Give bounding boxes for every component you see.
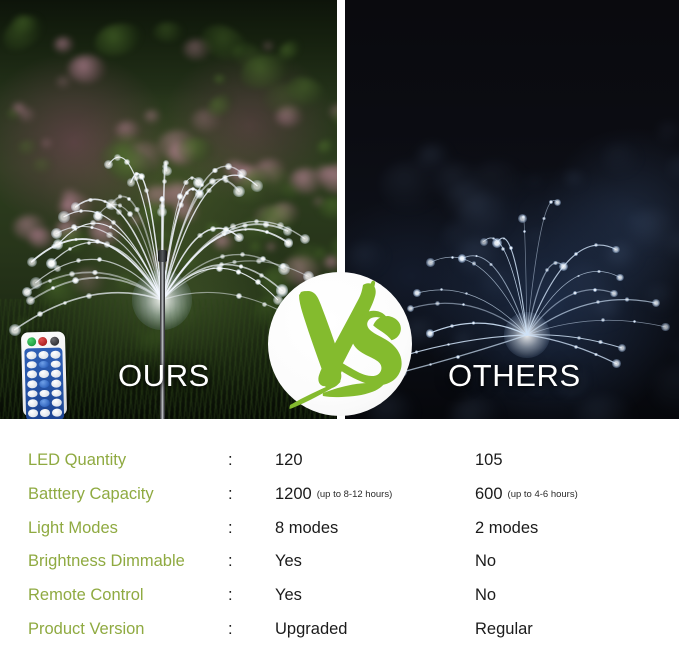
led-bulb bbox=[210, 226, 216, 232]
remote-key bbox=[40, 399, 50, 407]
led-bulb bbox=[577, 336, 581, 340]
led-bulb bbox=[447, 343, 450, 346]
led-bulb bbox=[197, 233, 203, 239]
led-bulb bbox=[232, 260, 237, 265]
led-bulb bbox=[88, 198, 93, 203]
led-bulb bbox=[593, 288, 597, 292]
spec-label: LED Quantity bbox=[28, 451, 126, 470]
remote-key bbox=[26, 351, 36, 359]
led-bulb bbox=[413, 289, 421, 297]
remote-mode-button bbox=[50, 337, 59, 346]
led-bulb bbox=[134, 172, 139, 177]
led-bulb bbox=[262, 302, 267, 307]
led-bulb bbox=[612, 246, 620, 254]
led-bulb bbox=[523, 230, 526, 233]
led-bulb bbox=[162, 179, 167, 184]
led-bulb bbox=[577, 275, 580, 278]
spec-value-ours-main: 120 bbox=[275, 451, 303, 469]
led-bulb bbox=[87, 241, 91, 245]
spec-value-others: No bbox=[475, 552, 496, 571]
led-bulb bbox=[652, 299, 660, 307]
garden-stake-pole bbox=[160, 258, 165, 419]
led-bulb bbox=[618, 344, 626, 352]
led-bulb bbox=[426, 258, 434, 266]
led-bulb bbox=[598, 340, 603, 345]
spec-value-others: 600(up to 4-6 hours) bbox=[475, 485, 578, 504]
spec-value-others: 105 bbox=[475, 451, 503, 470]
led-bulb bbox=[265, 230, 269, 234]
spec-colon: : bbox=[228, 586, 233, 605]
led-bulb bbox=[480, 238, 488, 246]
led-bulb bbox=[277, 222, 284, 229]
led-bulb bbox=[251, 180, 263, 192]
led-bulb bbox=[163, 160, 169, 166]
led-bulb bbox=[22, 287, 32, 297]
led-bulb bbox=[26, 296, 35, 305]
led-bulb bbox=[220, 254, 224, 258]
remote-key bbox=[51, 380, 61, 388]
spec-label: Batttery Capacity bbox=[28, 485, 154, 504]
remote-control bbox=[21, 331, 67, 416]
spec-value-others: Regular bbox=[475, 620, 533, 639]
spec-row: Remote Control:YesNo bbox=[0, 586, 679, 620]
spec-value-others-main: No bbox=[475, 552, 496, 570]
led-bulb bbox=[185, 191, 189, 195]
garden-stake-cap bbox=[158, 250, 167, 262]
led-bulb bbox=[553, 261, 557, 265]
spec-value-others-main: 600 bbox=[475, 485, 503, 503]
led-bulb bbox=[230, 223, 237, 230]
led-bulb bbox=[236, 269, 242, 275]
led-bulb bbox=[138, 173, 145, 180]
remote-key bbox=[51, 370, 61, 378]
led-bulb bbox=[492, 238, 502, 248]
led-bulb bbox=[48, 279, 52, 283]
spec-value-others-note: (up to 4-6 hours) bbox=[508, 489, 578, 500]
vs-icon bbox=[268, 272, 412, 416]
vs-badge bbox=[268, 272, 412, 416]
remote-power-on-button bbox=[27, 337, 36, 346]
led-bulb bbox=[212, 168, 218, 174]
led-bulb bbox=[95, 239, 100, 244]
led-bulb bbox=[127, 197, 131, 201]
led-bulb bbox=[46, 258, 57, 269]
spec-colon: : bbox=[228, 620, 233, 639]
spec-value-ours-main: Yes bbox=[275, 586, 302, 604]
led-bulb bbox=[157, 207, 167, 217]
led-bulb bbox=[435, 301, 440, 306]
led-bulb bbox=[76, 258, 81, 263]
spec-value-others: 2 modes bbox=[475, 519, 538, 538]
led-bulb bbox=[280, 263, 286, 269]
led-bulb bbox=[236, 293, 242, 299]
spec-value-ours: 1200(up to 8-12 hours) bbox=[275, 485, 392, 504]
led-bulb bbox=[234, 233, 244, 243]
remote-key bbox=[39, 370, 49, 378]
led-bulb bbox=[429, 363, 432, 366]
remote-key bbox=[28, 409, 38, 417]
ours-label: OURS bbox=[118, 358, 210, 394]
led-bulb bbox=[426, 329, 435, 338]
led-bulb bbox=[450, 324, 453, 327]
remote-key bbox=[27, 371, 37, 379]
spec-label: Remote Control bbox=[28, 586, 144, 605]
led-bulb bbox=[596, 300, 599, 303]
spec-value-ours: Upgraded bbox=[275, 620, 347, 639]
led-bulb bbox=[233, 186, 244, 197]
remote-power-off-button bbox=[39, 337, 48, 346]
spec-row: LED Quantity:120105 bbox=[0, 451, 679, 485]
spec-value-ours-main: Upgraded bbox=[275, 620, 347, 638]
spec-colon: : bbox=[228, 485, 233, 504]
spec-label: Product Version bbox=[28, 620, 144, 639]
led-bulb bbox=[451, 256, 454, 259]
led-bulb bbox=[93, 211, 103, 221]
spec-value-ours: 120 bbox=[275, 451, 303, 470]
remote-key bbox=[27, 361, 37, 369]
spec-row: Light Modes:8 modes2 modes bbox=[0, 519, 679, 553]
led-bulb bbox=[106, 199, 117, 210]
photo-comparison-band: OURS OTHERS bbox=[0, 0, 679, 419]
led-bulb bbox=[625, 297, 629, 301]
spec-value-ours-note: (up to 8-12 hours) bbox=[317, 489, 393, 500]
spec-value-others-main: 2 modes bbox=[475, 519, 538, 537]
remote-key bbox=[39, 390, 49, 398]
spec-value-ours: 8 modes bbox=[275, 519, 338, 538]
led-bulb bbox=[86, 293, 92, 299]
remote-keypad bbox=[24, 348, 64, 419]
led-bulb bbox=[116, 209, 122, 215]
product-comparison-graphic: OURS OTHERS bbox=[0, 0, 679, 645]
remote-key bbox=[27, 390, 37, 398]
led-bulb bbox=[118, 203, 122, 207]
remote-key bbox=[40, 409, 50, 417]
led-bulb bbox=[509, 246, 513, 250]
spec-value-ours: Yes bbox=[275, 586, 302, 605]
led-bulb bbox=[104, 241, 110, 247]
led-bulb bbox=[27, 257, 37, 267]
spec-colon: : bbox=[228, 552, 233, 571]
others-label: OTHERS bbox=[448, 358, 581, 394]
spec-value-ours: Yes bbox=[275, 552, 302, 571]
spec-label: Brightness Dimmable bbox=[28, 552, 185, 571]
led-bulb bbox=[63, 301, 67, 305]
remote-top-button-row bbox=[26, 337, 60, 347]
led-bulb bbox=[124, 159, 130, 165]
led-bulb bbox=[518, 214, 527, 223]
spec-value-ours-main: 1200 bbox=[275, 485, 312, 503]
led-bulb bbox=[206, 188, 211, 193]
led-bulb bbox=[106, 232, 112, 238]
led-bulb bbox=[178, 202, 184, 208]
led-bulb bbox=[209, 178, 216, 185]
led-bulb bbox=[222, 175, 227, 180]
led-bulb bbox=[612, 359, 621, 368]
spec-row: Brightness Dimmable:YesNo bbox=[0, 552, 679, 586]
led-bulb bbox=[90, 226, 94, 230]
remote-key bbox=[39, 361, 49, 369]
spec-row: Batttery Capacity:1200(up to 8-12 hours)… bbox=[0, 485, 679, 519]
spec-value-ours-main: Yes bbox=[275, 552, 302, 570]
led-bulb bbox=[134, 207, 139, 212]
led-bulb bbox=[200, 183, 204, 187]
led-bulb bbox=[53, 239, 63, 249]
remote-key bbox=[52, 399, 62, 407]
led-bulb bbox=[300, 234, 310, 244]
led-bulb bbox=[238, 173, 244, 179]
led-bulb bbox=[51, 228, 62, 239]
led-bulb bbox=[183, 180, 189, 186]
spec-comparison-table: LED Quantity:120105Batttery Capacity:120… bbox=[0, 419, 679, 645]
led-bulb bbox=[71, 202, 80, 211]
led-bulb bbox=[162, 166, 172, 176]
remote-key bbox=[28, 400, 38, 408]
led-bulb bbox=[58, 211, 70, 223]
remote-key bbox=[52, 409, 62, 417]
spec-row: Product Version:UpgradedRegular bbox=[0, 620, 679, 645]
remote-key bbox=[38, 351, 48, 359]
spec-value-ours-main: 8 modes bbox=[275, 519, 338, 537]
led-bulb bbox=[127, 178, 136, 187]
led-bulb bbox=[633, 320, 636, 323]
spec-value-others-main: No bbox=[475, 586, 496, 604]
remote-key bbox=[51, 351, 61, 359]
led-bulb bbox=[254, 219, 259, 224]
led-bulb bbox=[114, 154, 121, 161]
remote-key bbox=[52, 389, 62, 397]
spec-colon: : bbox=[228, 451, 233, 470]
led-bulb bbox=[216, 265, 223, 272]
led-bulb bbox=[9, 324, 21, 336]
led-bulb bbox=[225, 163, 232, 170]
spec-value-others-main: Regular bbox=[475, 620, 533, 638]
remote-key bbox=[27, 380, 37, 388]
led-bulb bbox=[283, 226, 293, 236]
led-bulb bbox=[30, 277, 42, 289]
led-bulb bbox=[597, 270, 601, 274]
spec-colon: : bbox=[228, 519, 233, 538]
led-bulb bbox=[501, 247, 505, 251]
led-bulb bbox=[37, 311, 43, 317]
spec-value-others: No bbox=[475, 586, 496, 605]
led-bulb bbox=[545, 268, 549, 272]
led-bulb bbox=[74, 238, 78, 242]
spec-label: Light Modes bbox=[28, 519, 118, 538]
remote-key bbox=[39, 380, 49, 388]
led-bulb bbox=[256, 258, 262, 264]
spec-value-others-main: 105 bbox=[475, 451, 503, 469]
led-bulb bbox=[72, 277, 79, 284]
remote-key bbox=[51, 360, 61, 368]
led-bulb bbox=[144, 188, 149, 193]
